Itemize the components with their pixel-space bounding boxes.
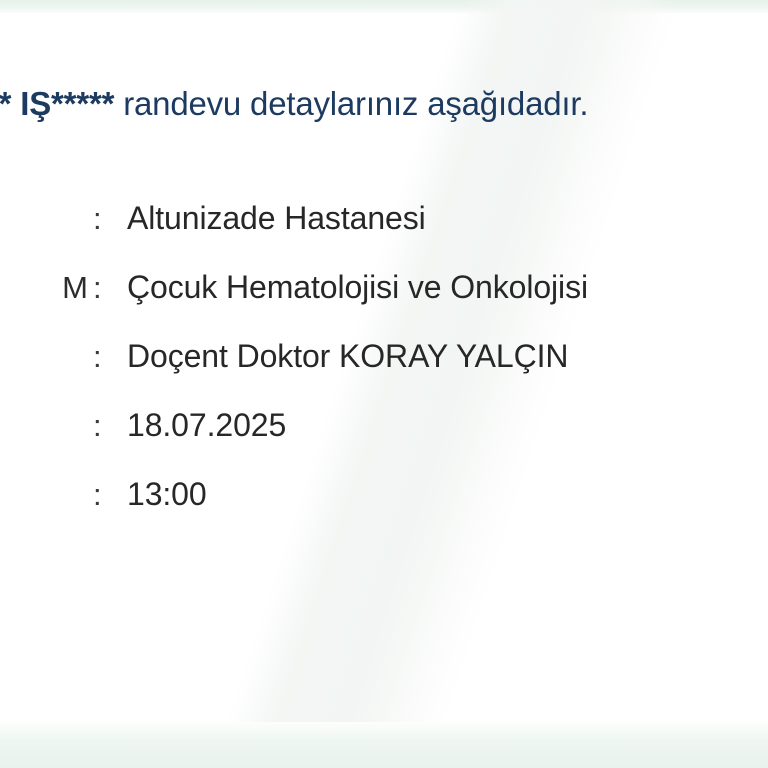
detail-row-date: : 18.07.2025 bbox=[0, 403, 768, 472]
detail-row-hospital: : Altunizade Hastanesi bbox=[0, 196, 768, 265]
appointment-notice-screen: ** IŞ***** randevu detaylarınız aşağıdad… bbox=[0, 0, 768, 768]
detail-row-clinic: M : Çocuk Hematolojisi ve Onkolojisi bbox=[0, 265, 768, 334]
detail-separator-hospital: : bbox=[93, 200, 102, 238]
detail-separator-clinic: : bbox=[93, 269, 102, 307]
detail-separator-time: : bbox=[93, 476, 102, 514]
page-title: ** IŞ***** randevu detaylarınız aşağıdad… bbox=[0, 84, 768, 124]
masked-recipient-name: ** IŞ***** bbox=[0, 85, 114, 122]
detail-value-time: 13:00 bbox=[127, 474, 207, 514]
appointment-details-list: : Altunizade Hastanesi M : Çocuk Hematol… bbox=[0, 196, 768, 541]
detail-row-doctor: : Doçent Doktor KORAY YALÇIN bbox=[0, 334, 768, 403]
detail-separator-doctor: : bbox=[93, 338, 102, 376]
detail-value-clinic: Çocuk Hematolojisi ve Onkolojisi bbox=[127, 267, 588, 307]
detail-value-doctor: Doçent Doktor KORAY YALÇIN bbox=[127, 336, 568, 376]
detail-value-hospital: Altunizade Hastanesi bbox=[127, 198, 426, 238]
detail-label-clinic: M bbox=[0, 269, 88, 307]
page-title-text: randevu detaylarınız aşağıdadır. bbox=[114, 85, 588, 122]
detail-row-time: : 13:00 bbox=[0, 472, 768, 541]
detail-value-date: 18.07.2025 bbox=[127, 405, 286, 445]
detail-separator-date: : bbox=[93, 407, 102, 445]
notice-content: ** IŞ***** randevu detaylarınız aşağıdad… bbox=[0, 0, 768, 768]
